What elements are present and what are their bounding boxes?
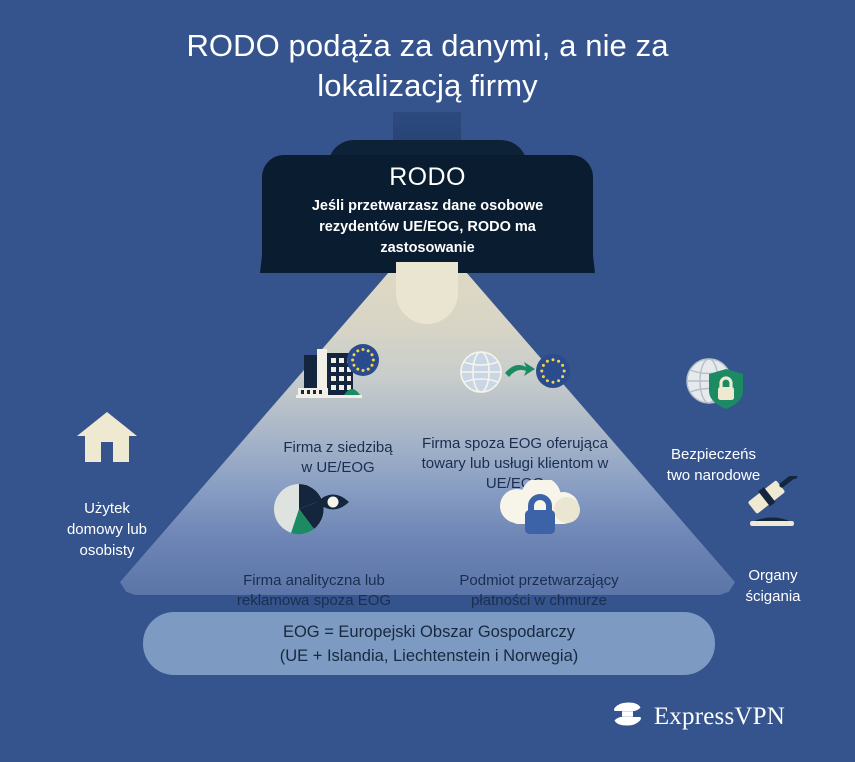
eea-definition-banner: EOG = Europejski Obszar Gospodarczy (UE … — [143, 612, 715, 675]
lamp-headline: RODO — [262, 160, 593, 194]
side-item-label: Organy ścigania — [745, 567, 800, 605]
house-icon — [37, 388, 177, 471]
lamp-subtext: Jeśli przetwarzasz dane osobowe rezydent… — [262, 196, 593, 259]
globe-arrow-eu-icon — [399, 323, 631, 407]
gavel-icon — [707, 455, 839, 538]
expressvpn-logo-text: ExpressVPN — [654, 703, 785, 731]
cloud-lock-icon — [428, 460, 650, 544]
pie-chart-eye-icon — [196, 460, 432, 544]
expressvpn-logo: ExpressVPN — [609, 699, 785, 734]
expressvpn-logo-icon — [609, 699, 645, 734]
lamp-bulb-icon — [396, 262, 458, 324]
side-item-law-enforcement: Organy ścigania — [707, 434, 839, 607]
side-item-label: Użytek domowy lub osobisty — [67, 500, 147, 559]
infographic-root: RODO podąża za danymi, a nie za lokaliza… — [0, 0, 855, 762]
globe-shield-lock-icon — [645, 334, 782, 417]
lamp-shade-text-block: RODO Jeśli przetwarzasz dane osobowe rez… — [262, 160, 593, 259]
side-item-household-use: Użytek domowy lub osobisty — [37, 367, 177, 561]
page-title: RODO podąża za danymi, a nie za lokaliza… — [0, 26, 855, 106]
